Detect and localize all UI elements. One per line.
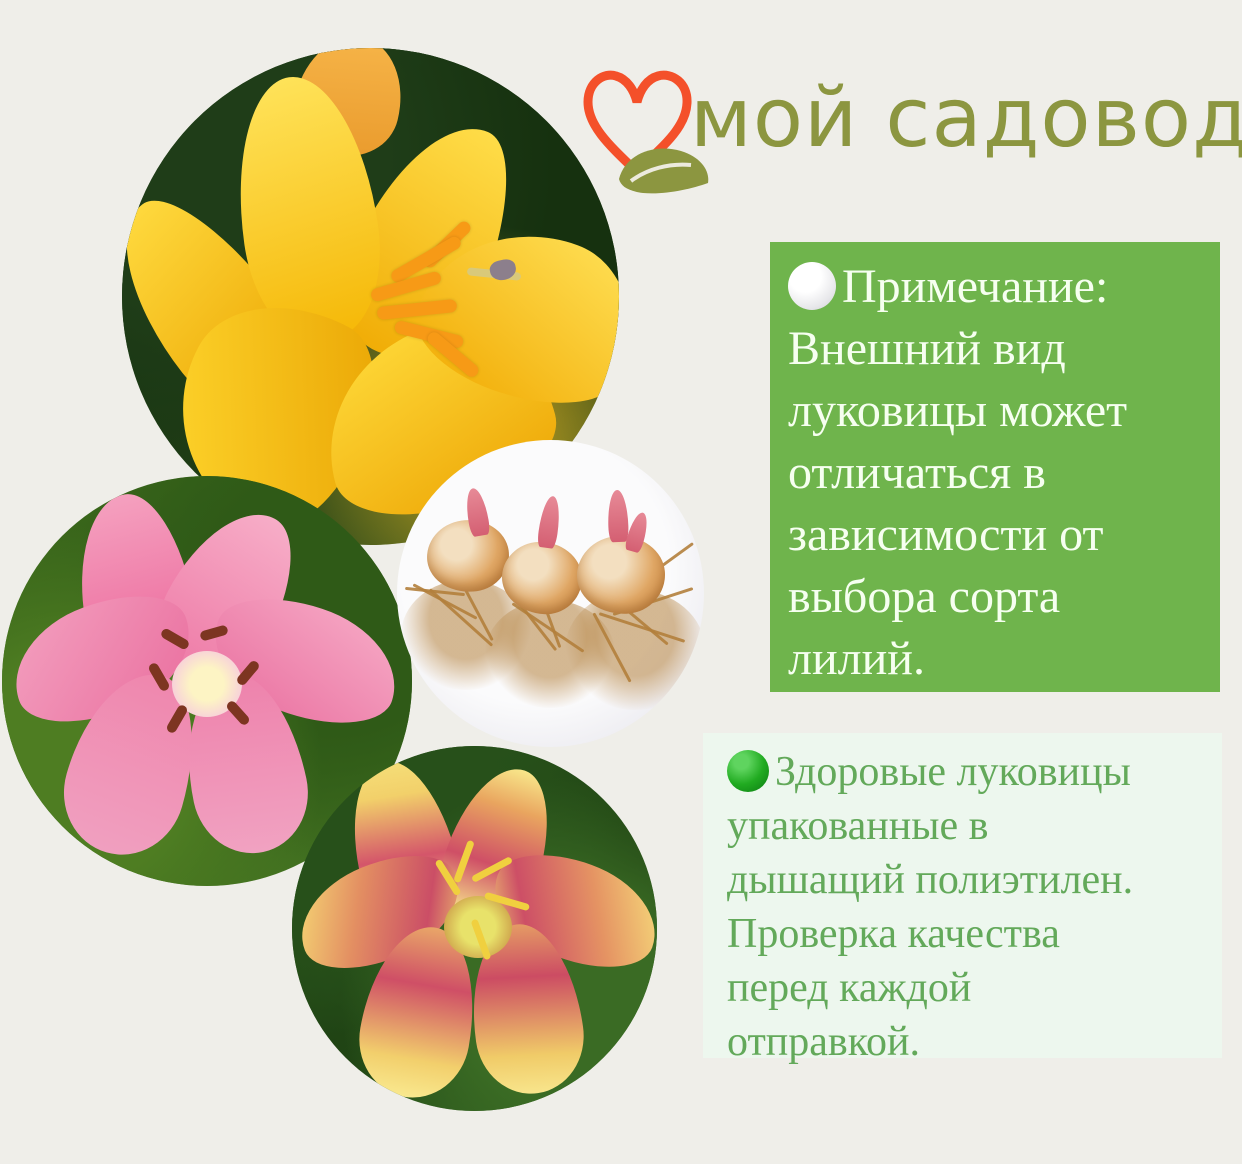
note-line-7: лилий.: [788, 632, 925, 685]
health-line-2: упакованные в: [727, 803, 988, 849]
health-line-5: перед каждой: [727, 965, 971, 1011]
health-line-3: дышащий полиэтилен.: [727, 857, 1133, 903]
white-circle-bullet-icon: [788, 262, 836, 310]
healthy-bulbs-text-block: Здоровые луковицы упакованные в дышащий …: [703, 733, 1222, 1069]
note-line-5: зависимости от: [788, 508, 1104, 561]
note-line-2: Внешний вид: [788, 322, 1066, 375]
green-circle-bullet-icon: [727, 750, 769, 792]
note-line-4: отличаться в: [788, 446, 1046, 499]
note-callout-box: Примечание: Внешний вид луковицы может о…: [770, 242, 1220, 692]
brand-name: мой садовод: [690, 67, 1242, 171]
brand-logo[interactable]: мой садовод: [575, 55, 1225, 205]
red-yellow-lily-photo: [292, 746, 657, 1111]
health-line-6: отправкой.: [727, 1019, 920, 1065]
note-line-1: Примечание:: [842, 260, 1108, 313]
health-line-4: Проверка качества: [727, 911, 1060, 957]
lily-bulbs-photo: [397, 440, 704, 747]
note-text-block: Примечание: Внешний вид луковицы может о…: [770, 242, 1220, 690]
healthy-bulbs-callout-box: Здоровые луковицы упакованные в дышащий …: [703, 733, 1222, 1058]
note-line-3: луковицы может: [788, 384, 1127, 437]
poster-canvas: мой садовод: [0, 0, 1242, 1164]
health-line-1: Здоровые луковицы: [775, 749, 1131, 795]
note-line-6: выбора сорта: [788, 570, 1060, 623]
